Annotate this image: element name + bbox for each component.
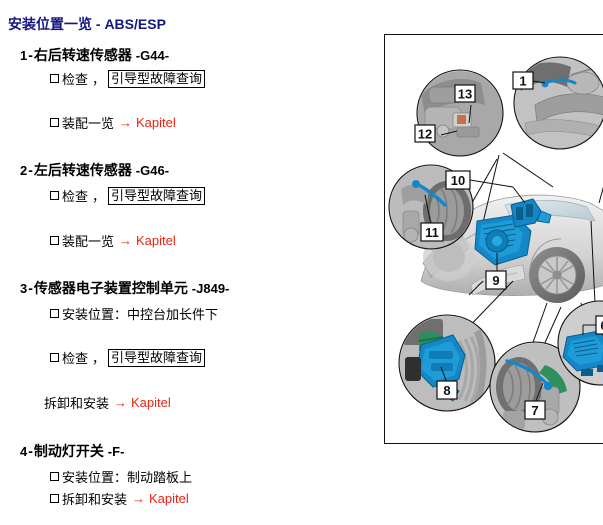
section-1-code: -G44- [136, 48, 169, 63]
callout-12: 12 [415, 125, 435, 142]
guided-fault-finding-link[interactable]: 引导型故障查询 [108, 349, 205, 367]
line-label: 安装位置：制动踏板上 [62, 467, 192, 486]
page-title: 安装位置一览 - ABS/ESP [8, 14, 166, 34]
callout-8-label: 8 [443, 383, 450, 398]
section-1-line-2: 装配一览 → Kapitel [50, 113, 176, 132]
detail-circle-rear-axle: 1 [513, 57, 603, 150]
callout-6: 6 [596, 316, 603, 334]
section-4-name: 制动灯开关 [34, 443, 104, 459]
diagram-svg: 13 12 1 [385, 35, 603, 444]
section-3-dash: - [27, 280, 34, 296]
line-comma: ， [88, 186, 108, 205]
callout-9-label: 9 [492, 273, 499, 288]
callout-11-label: 11 [425, 225, 439, 240]
checkbox-bullet-icon[interactable] [50, 309, 59, 318]
section-4-line-2: 拆卸和安装 → Kapitel [50, 489, 189, 508]
section-4-heading: 4-制动灯开关 -F- [20, 441, 124, 461]
line-label: 装配一览 [62, 113, 114, 132]
section-4-code: -F- [108, 444, 125, 459]
installation-location-diagram: 13 12 1 [384, 34, 603, 444]
arrow-icon: → [127, 491, 149, 506]
arrow-icon: → [109, 395, 131, 410]
callout-7-label: 7 [531, 403, 538, 418]
callout-12-label: 12 [418, 127, 432, 142]
checkbox-bullet-icon[interactable] [50, 74, 59, 83]
arrow-icon: → [114, 233, 136, 248]
kapitel-link[interactable]: Kapitel [136, 233, 176, 248]
line-label: 检查 [62, 348, 88, 367]
callout-1-label: 1 [519, 74, 526, 89]
section-2-code: -G46- [136, 163, 169, 178]
section-1-dash: - [27, 47, 34, 63]
document-body: 安装位置一览 - ABS/ESP 1-右后转速传感器 -G44- 检查 ， 引导… [0, 0, 380, 525]
line-comma: ， [88, 348, 108, 367]
callout-9: 9 [486, 271, 506, 289]
section-2-name: 左后转速传感器 [34, 162, 132, 178]
section-2-dash: - [27, 162, 34, 178]
callout-10: 10 [446, 171, 513, 189]
section-3-heading: 3-传感器电子装置控制单元 -J849- [20, 278, 229, 298]
section-2-line-2: 装配一览 → Kapitel [50, 231, 176, 250]
line-label: 拆卸和安装 [62, 489, 127, 508]
checkbox-bullet-icon[interactable] [50, 236, 59, 245]
section-3-line-1: 安装位置：中控台加长件下 [50, 304, 218, 323]
detail-circle-console [417, 70, 503, 156]
line-label: 装配一览 [62, 231, 114, 250]
callout-7: 7 [525, 401, 545, 419]
section-3-line-3: 拆卸和安装 → Kapitel [44, 393, 171, 412]
line-label: 安装位置：中控台加长件下 [62, 304, 218, 323]
checkbox-bullet-icon[interactable] [50, 472, 59, 481]
checkbox-bullet-icon[interactable] [50, 494, 59, 503]
checkbox-bullet-icon[interactable] [50, 353, 59, 362]
detail-circle-brake-light-switch: 8 [399, 315, 495, 411]
section-1-heading: 1-右后转速传感器 -G44- [20, 45, 169, 65]
kapitel-link[interactable]: Kapitel [136, 115, 176, 130]
kapitel-link[interactable]: Kapitel [149, 491, 189, 506]
section-1-name: 右后转速传感器 [34, 47, 132, 63]
line-comma: ， [88, 69, 108, 88]
line-label: 检查 [62, 186, 88, 205]
arrow-icon: → [114, 115, 136, 130]
callout-13: 13 [455, 85, 475, 102]
guided-fault-finding-link[interactable]: 引导型故障查询 [108, 70, 205, 88]
section-2-heading: 2-左后转速传感器 -G46- [20, 160, 169, 180]
callout-13-label: 13 [458, 87, 472, 102]
section-3-line-2: 检查 ， 引导型故障查询 [50, 348, 205, 367]
callout-10-label: 10 [451, 173, 465, 188]
line-label: 检查 [62, 69, 88, 88]
section-4-line-1: 安装位置：制动踏板上 [50, 467, 192, 486]
section-3-code: -J849- [192, 281, 230, 296]
section-4-dash: - [27, 443, 34, 459]
callout-8: 8 [437, 381, 457, 399]
section-1-line-1: 检查 ， 引导型故障查询 [50, 69, 205, 88]
checkbox-bullet-icon[interactable] [50, 118, 59, 127]
callout-11: 11 [421, 223, 443, 241]
guided-fault-finding-link[interactable]: 引导型故障查询 [108, 187, 205, 205]
checkbox-bullet-icon[interactable] [50, 191, 59, 200]
section-3-name: 传感器电子装置控制单元 [34, 280, 188, 296]
section-2-line-1: 检查 ， 引导型故障查询 [50, 186, 205, 205]
kapitel-link[interactable]: Kapitel [131, 395, 171, 410]
line-label: 拆卸和安装 [44, 393, 109, 412]
